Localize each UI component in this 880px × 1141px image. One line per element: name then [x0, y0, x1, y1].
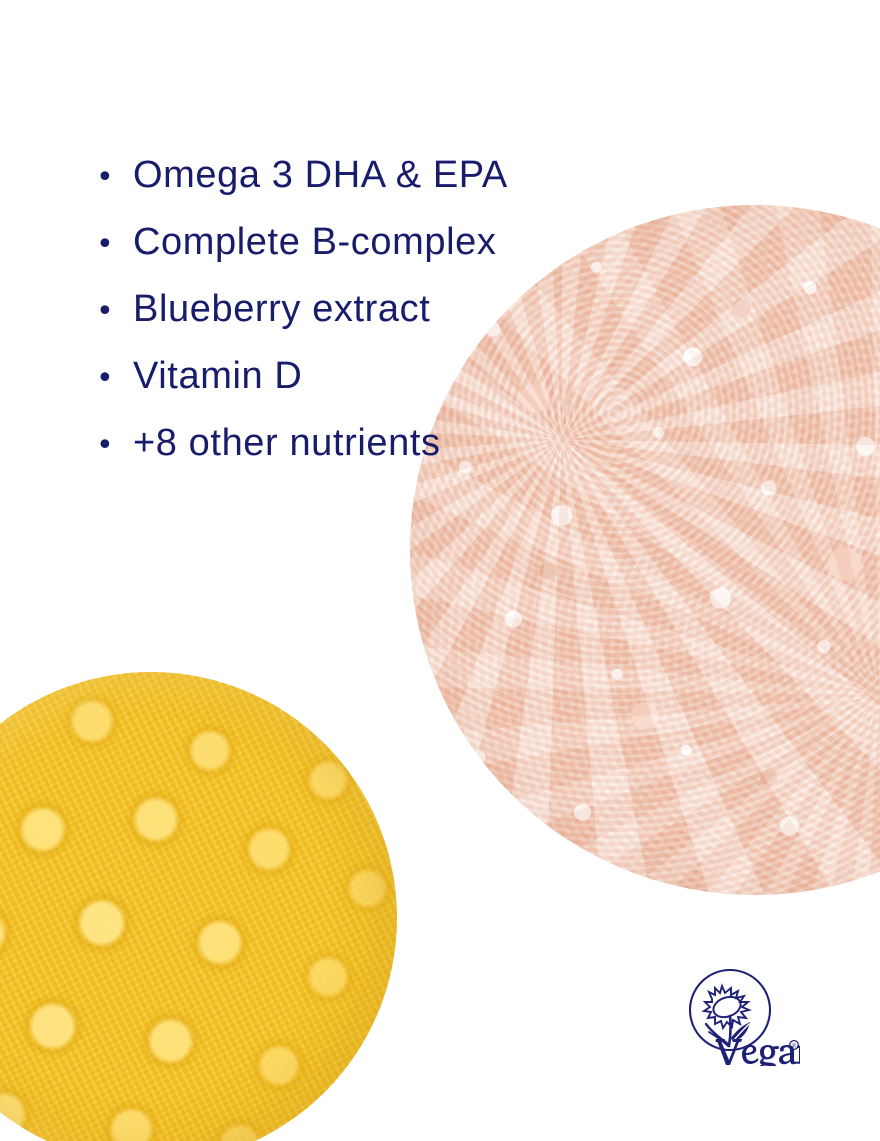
benefit-label: Vitamin D: [133, 353, 302, 399]
bullet-icon: •: [96, 230, 133, 260]
yellow-powder-circle: [0, 672, 397, 1141]
benefits-list: • Omega 3 DHA & EPA • Complete B-complex…: [96, 152, 696, 487]
list-item: • Blueberry extract: [96, 286, 696, 353]
benefit-label: Complete B-complex: [133, 219, 497, 265]
benefit-label: +8 other nutrients: [133, 420, 441, 466]
bullet-icon: •: [96, 297, 133, 327]
bullet-icon: •: [96, 163, 133, 193]
list-item: • Omega 3 DHA & EPA: [96, 152, 696, 219]
registered-mark-icon: R: [790, 1041, 799, 1050]
benefit-label: Blueberry extract: [133, 286, 430, 332]
vegan-wordmark-text: Vegan: [684, 1066, 685, 1067]
list-item: • +8 other nutrients: [96, 420, 696, 487]
vegan-society-logo: R Vegan: [684, 966, 800, 1066]
bullet-icon: •: [96, 364, 133, 394]
vegan-sunflower-icon: R: [684, 966, 800, 1066]
list-item: • Complete B-complex: [96, 219, 696, 286]
bullet-icon: •: [96, 431, 133, 461]
benefit-label: Omega 3 DHA & EPA: [133, 152, 508, 198]
product-benefits-graphic: • Omega 3 DHA & EPA • Complete B-complex…: [0, 0, 880, 1141]
list-item: • Vitamin D: [96, 353, 696, 420]
